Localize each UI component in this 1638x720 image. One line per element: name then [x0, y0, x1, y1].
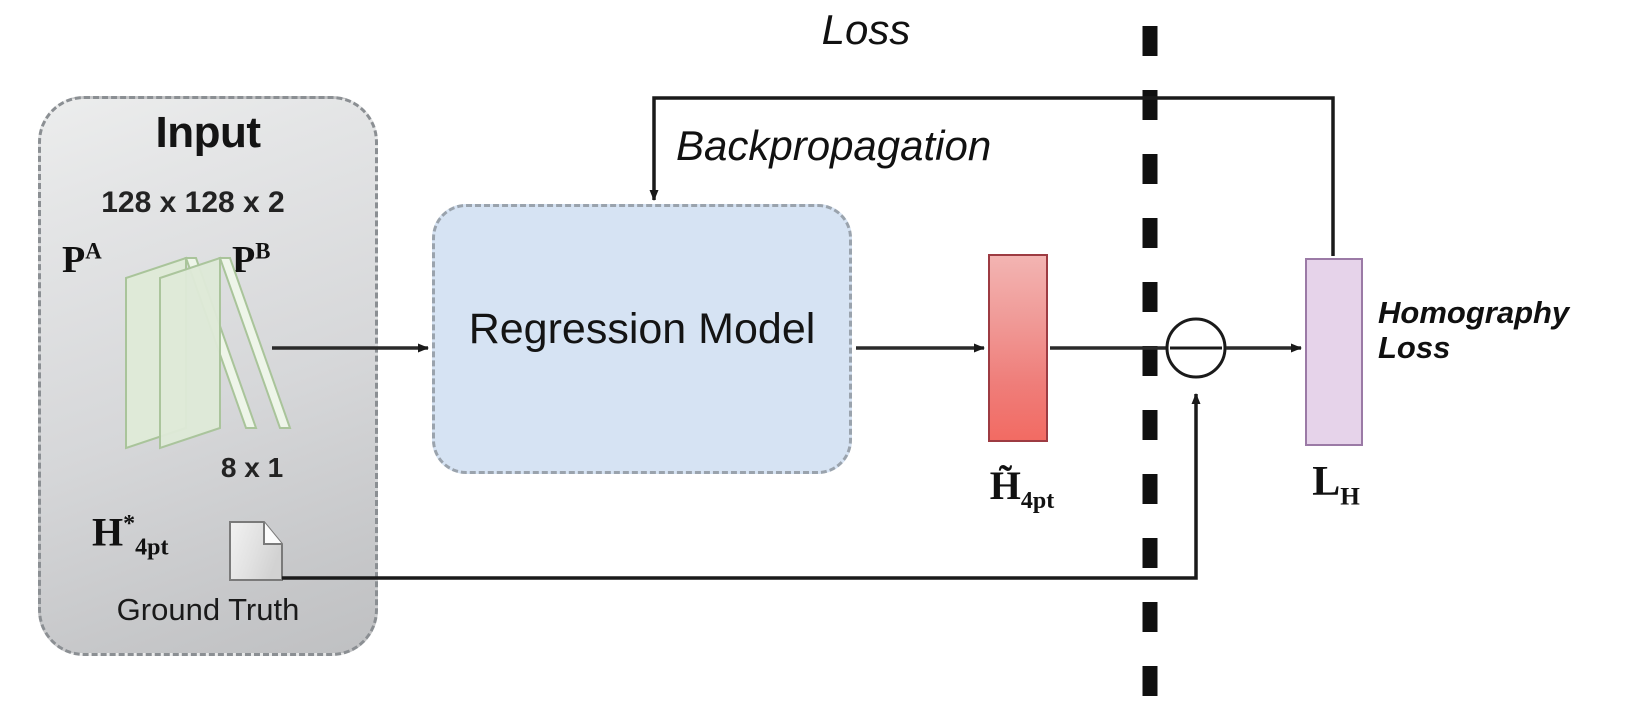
loss-flow-label: Loss	[716, 6, 1016, 54]
diagram-canvas: Input 128 x 128 x 2 PA PB 8 x 1 H*4pt Gr…	[0, 0, 1638, 720]
loss-symbol-base: L	[1312, 459, 1340, 505]
predicted-homography-symbol: H̃	[990, 463, 1021, 508]
patch-a-label: PA	[62, 238, 102, 282]
patch-a-superscript: A	[85, 238, 101, 263]
ground-truth-dimensions-label: 8 x 1	[192, 452, 312, 484]
document-icon	[228, 520, 284, 582]
input-dimensions-label: 128 x 128 x 2	[48, 186, 338, 220]
homography-loss-annotation: Homography Loss	[1378, 296, 1628, 365]
image-patch-stack-icon	[120, 252, 300, 462]
ground-truth-symbol-superscript: *	[123, 511, 135, 537]
homography-loss-annotation-line1: Homography	[1378, 296, 1628, 331]
predicted-homography-bar	[988, 254, 1048, 442]
loss-symbol-subscript: H	[1340, 483, 1360, 510]
homography-loss-annotation-line2: Loss	[1378, 331, 1628, 366]
predicted-homography-subscript: 4pt	[1021, 488, 1054, 514]
ground-truth-symbol-subscript: 4pt	[135, 534, 168, 560]
input-panel-title: Input	[38, 108, 378, 158]
ground-truth-symbol: H*4pt	[92, 512, 168, 559]
predicted-homography-label: H̃4pt	[958, 462, 1086, 515]
patch-a-base: P	[62, 239, 85, 281]
ground-truth-caption: Ground Truth	[48, 592, 368, 628]
homography-loss-bar	[1305, 258, 1363, 446]
regression-model-label: Regression Model	[432, 305, 852, 354]
homography-loss-symbol-label: LH	[1272, 458, 1400, 511]
subtraction-node	[1167, 319, 1225, 377]
ground-truth-symbol-base: H	[92, 509, 123, 554]
backpropagation-flow-label: Backpropagation	[676, 122, 1126, 170]
